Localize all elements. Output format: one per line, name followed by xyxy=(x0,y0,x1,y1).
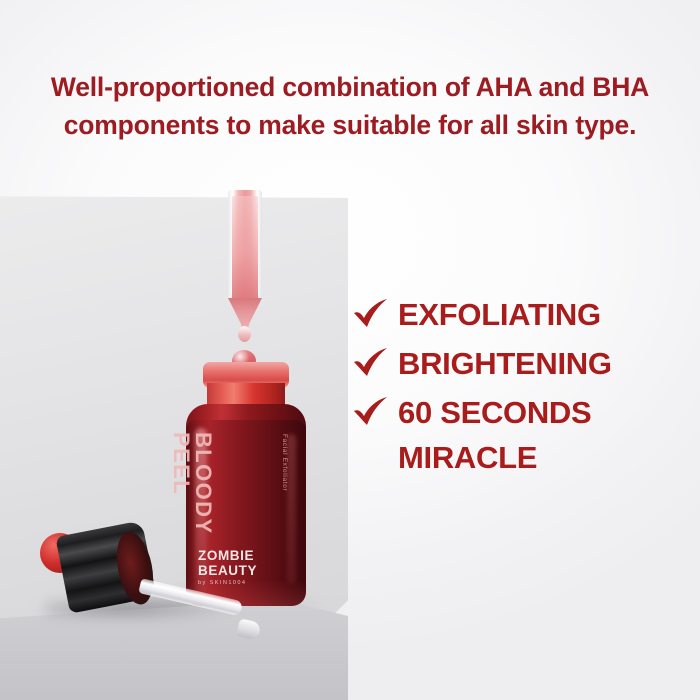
brand-lockup: ZOMBIE BEAUTY by SKIN1004 xyxy=(198,548,294,586)
benefit-label: 60 SECONDS MIRACLE xyxy=(398,390,682,480)
benefit-label: EXFOLIATING xyxy=(398,292,682,337)
list-item: EXFOLIATING xyxy=(352,292,682,338)
check-icon xyxy=(352,296,390,330)
check-icon xyxy=(352,394,390,428)
product-ad-image: BLOODY PEEL Facial Exfoliator ZOMBIE BEA… xyxy=(0,0,700,700)
product-label-subtitle: Facial Exfoliator xyxy=(281,434,288,491)
forming-droplet xyxy=(238,326,251,342)
benefit-label: BRIGHTENING xyxy=(398,341,682,386)
product-label-name: BLOODY PEEL xyxy=(170,432,214,535)
dropper-pipette-fluid xyxy=(232,196,258,300)
check-icon xyxy=(352,345,390,379)
list-item: BRIGHTENING xyxy=(352,341,682,387)
benefit-list: EXFOLIATING BRIGHTENING 60 SECONDS MIRAC… xyxy=(352,292,682,483)
brand-name: ZOMBIE BEAUTY xyxy=(198,548,294,578)
page-title: Well-proportioned combination of AHA and… xyxy=(0,68,700,144)
brand-parent-company: by SKIN1004 xyxy=(198,580,294,586)
list-item: 60 SECONDS MIRACLE xyxy=(352,390,682,480)
